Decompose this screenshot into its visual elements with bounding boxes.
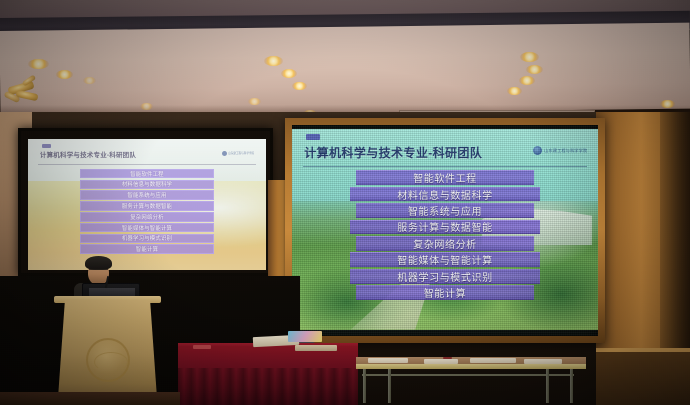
slide-logo: 山东建工程与科学学院 bbox=[533, 146, 587, 155]
red-table-skirt-folds bbox=[178, 368, 358, 405]
ceiling-panel bbox=[0, 23, 690, 117]
downlight-icon bbox=[248, 98, 261, 105]
paper-sheet bbox=[424, 359, 458, 364]
table-items bbox=[295, 345, 337, 351]
slide-corner-tag bbox=[306, 134, 320, 140]
downlight-icon bbox=[520, 52, 539, 62]
speaker-hair bbox=[85, 256, 112, 270]
slide-logo-text: 山东建工程与科学学院 bbox=[544, 148, 587, 154]
podium-emblem-icon bbox=[86, 338, 130, 382]
paper-sheet bbox=[368, 358, 408, 363]
lecture-hall-photo: 计算机科学与技术专业-科研团队 山东建工程与科学学院 智能软件工程 材料信息与数… bbox=[0, 0, 690, 405]
list-item: 复杂网络分析 bbox=[356, 236, 533, 251]
left-screen-surface: 计算机科学与技术专业-科研团队 山东建工程与科学学院 智能软件工程 材料信息与数… bbox=[28, 139, 266, 270]
list-item: 智能系统与应用 bbox=[356, 203, 533, 218]
paper-sheet bbox=[470, 358, 516, 363]
slide-title-rule bbox=[303, 166, 588, 167]
downlight-icon bbox=[519, 76, 535, 85]
downlight-icon bbox=[526, 65, 543, 74]
downlight-icon bbox=[292, 82, 307, 90]
downlight-icon bbox=[281, 69, 297, 78]
downlight-icon bbox=[56, 70, 73, 79]
long-table-rail bbox=[362, 374, 574, 376]
downlight-icon bbox=[507, 87, 522, 95]
list-item: 智能计算 bbox=[356, 285, 533, 300]
downlight-icon bbox=[264, 56, 283, 66]
main-slide: 计算机科学与技术专业-科研团队 山东建工程与科学学院 智能软件工程 材料信息与数… bbox=[292, 129, 598, 329]
slide-item-list: 智能软件工程 材料信息与数据科学 智能系统与应用 服务计算与数据智能 复杂网络分… bbox=[292, 168, 598, 328]
list-item: 材料信息与数据科学 bbox=[350, 187, 540, 202]
downlight-icon bbox=[28, 59, 49, 69]
list-item: 服务计算与数据智能 bbox=[350, 220, 540, 235]
table-leg bbox=[546, 369, 549, 403]
speaker-glasses bbox=[89, 269, 108, 273]
table-leg bbox=[570, 369, 573, 403]
left-screen-light-veil bbox=[28, 139, 266, 270]
pen bbox=[443, 357, 452, 359]
page-title: 计算机科学与技术专业-科研团队 bbox=[304, 144, 482, 161]
university-logo-icon bbox=[533, 146, 542, 155]
paper-sheet bbox=[524, 359, 562, 364]
downlight-icon bbox=[83, 77, 96, 84]
table-items bbox=[288, 331, 322, 342]
left-projection-screen[interactable]: 计算机科学与技术专业-科研团队 山东建工程与科学学院 智能软件工程 材料信息与数… bbox=[18, 128, 273, 276]
right-wall-lower-panel bbox=[596, 352, 690, 405]
floor bbox=[0, 392, 180, 405]
main-display-screen[interactable]: 计算机科学与技术专业-科研团队 山东建工程与科学学院 智能软件工程 材料信息与数… bbox=[292, 125, 598, 336]
list-item: 机器学习与模式识别 bbox=[350, 269, 540, 284]
table-leg bbox=[363, 369, 366, 403]
list-item: 智能媒体与智能计算 bbox=[350, 252, 540, 267]
list-item: 智能软件工程 bbox=[356, 170, 533, 185]
table-items bbox=[193, 345, 211, 349]
table-leg bbox=[388, 369, 391, 403]
